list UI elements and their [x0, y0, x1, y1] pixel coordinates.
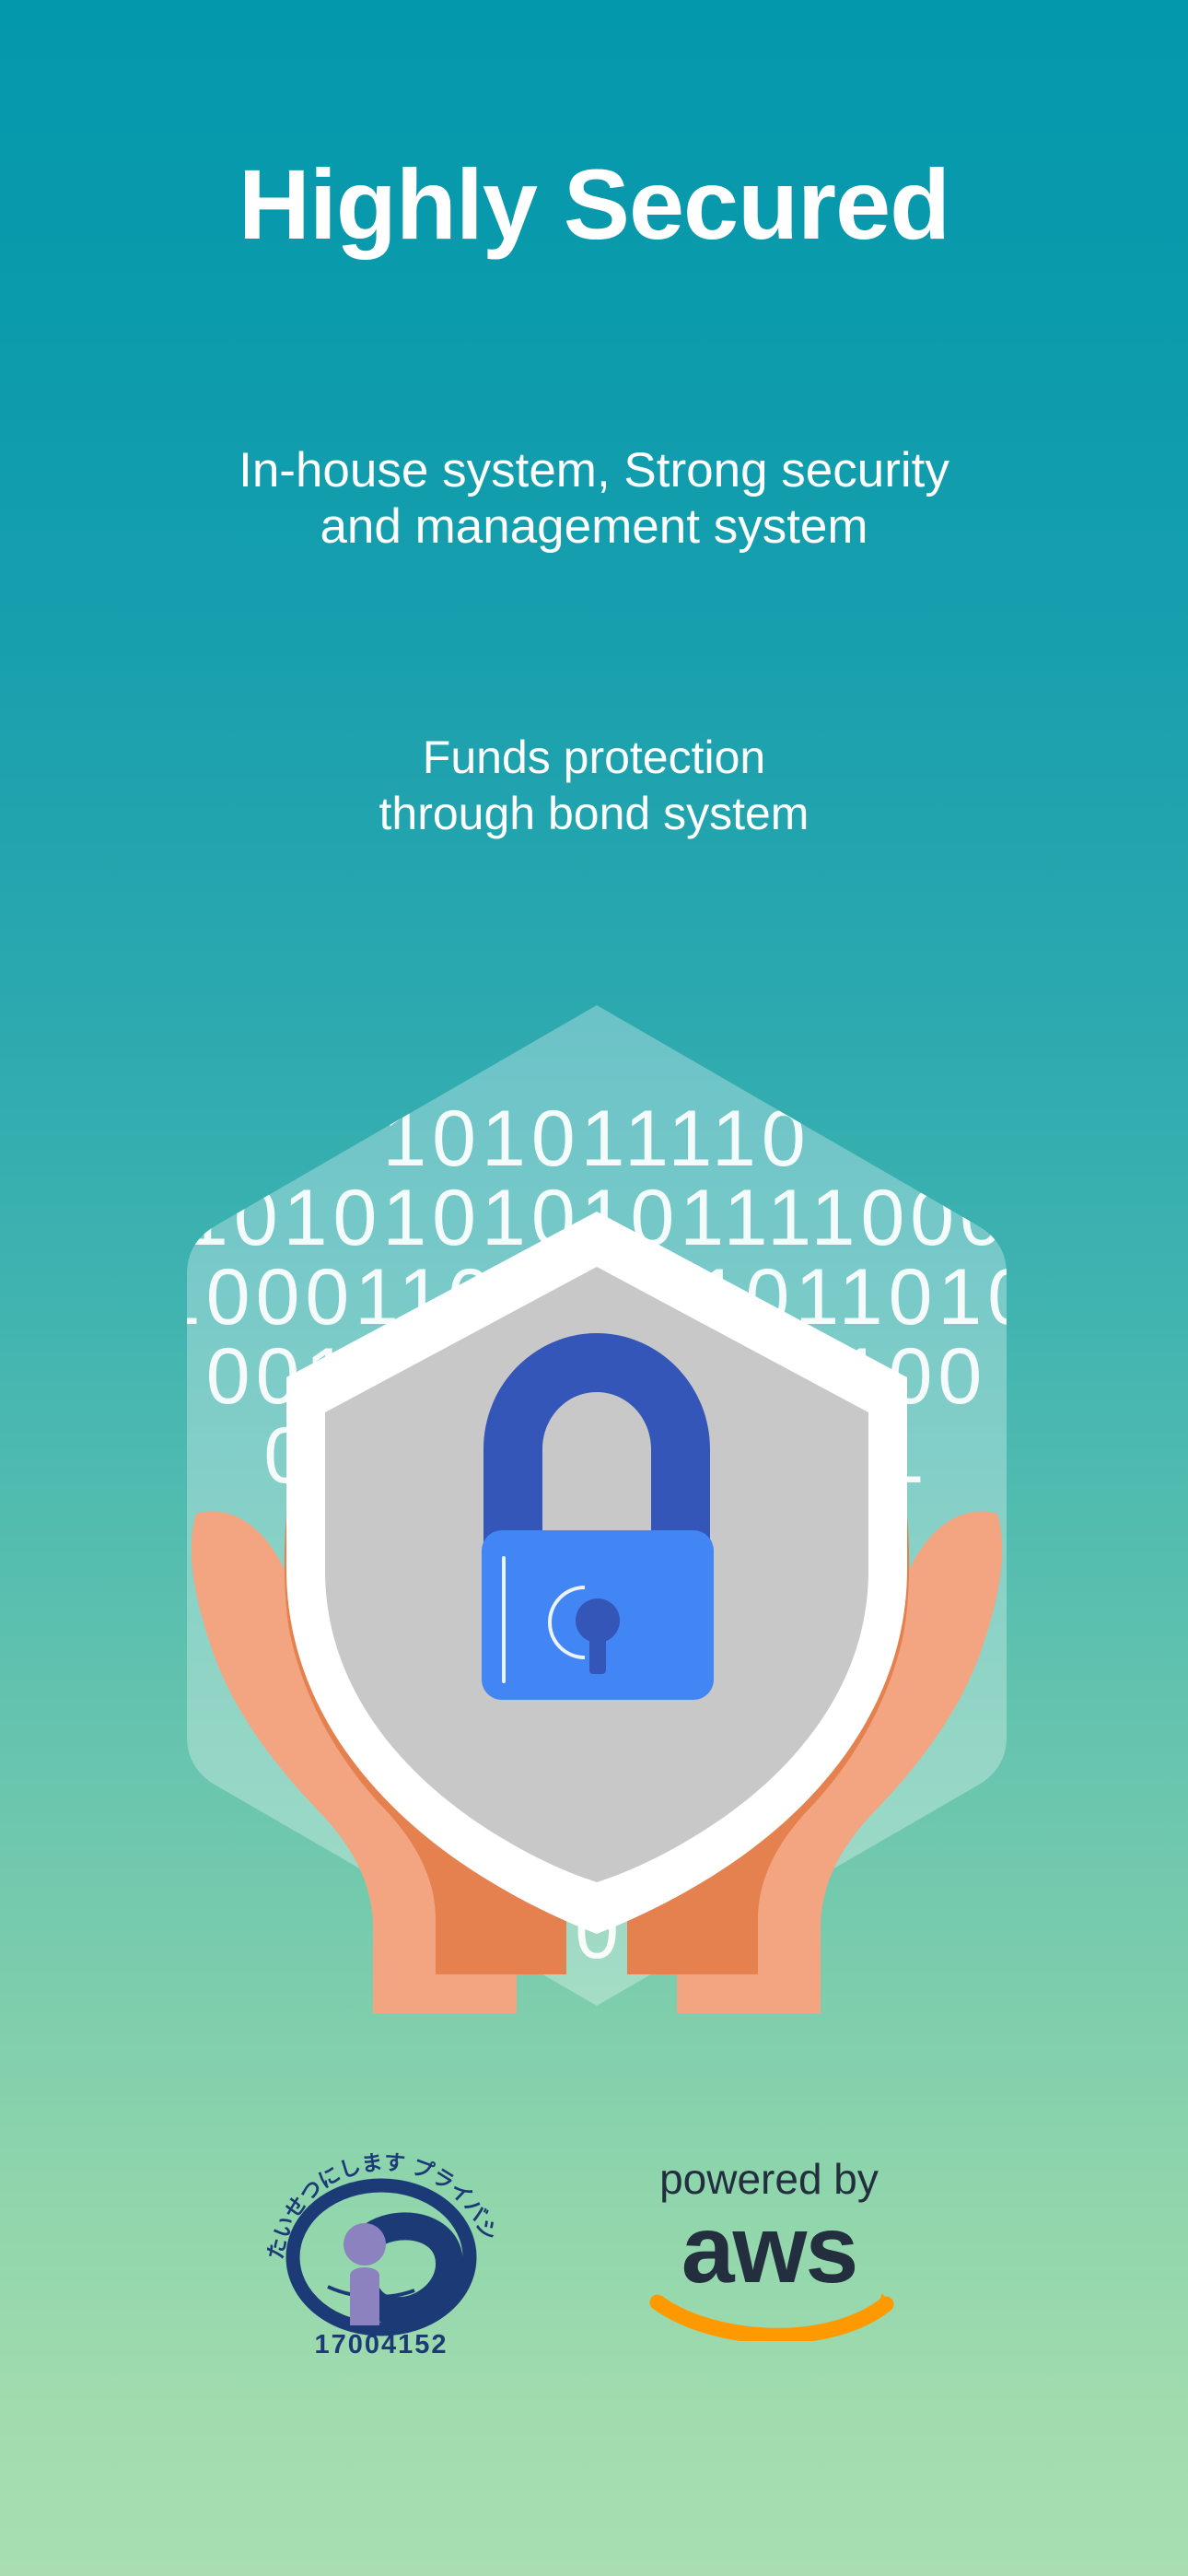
- title-block: Highly Secured: [0, 155, 1188, 254]
- tagline-line-2: through bond system: [0, 786, 1188, 842]
- page-title: Highly Secured: [0, 155, 1188, 254]
- subtitle-block: In-house system, Strong security and man…: [0, 442, 1188, 556]
- privacy-mark-logo[interactable]: たいせつにします プライバシー 17004152: [267, 2128, 495, 2359]
- subtitle-line-2: and management system: [0, 498, 1188, 555]
- promo-screen: Highly Secured In-house system, Strong s…: [0, 0, 1188, 2576]
- tagline-block: Funds protection through bond system: [0, 730, 1188, 842]
- subtitle-line-1: In-house system, Strong security: [0, 442, 1188, 498]
- svg-text:101011110: 101011110: [382, 1095, 810, 1183]
- privacy-mark-number: 17004152: [314, 2330, 448, 2359]
- aws-wordmark: aws: [681, 2196, 857, 2303]
- footer-logos: たいせつにします プライバシー 17004152 powered by aws: [0, 2128, 1188, 2359]
- security-illustration: 101011110 10101010101111000 100011010101…: [169, 998, 1025, 2013]
- powered-by-aws-logo[interactable]: powered by aws: [617, 2146, 921, 2341]
- tagline-line-1: Funds protection: [0, 730, 1188, 786]
